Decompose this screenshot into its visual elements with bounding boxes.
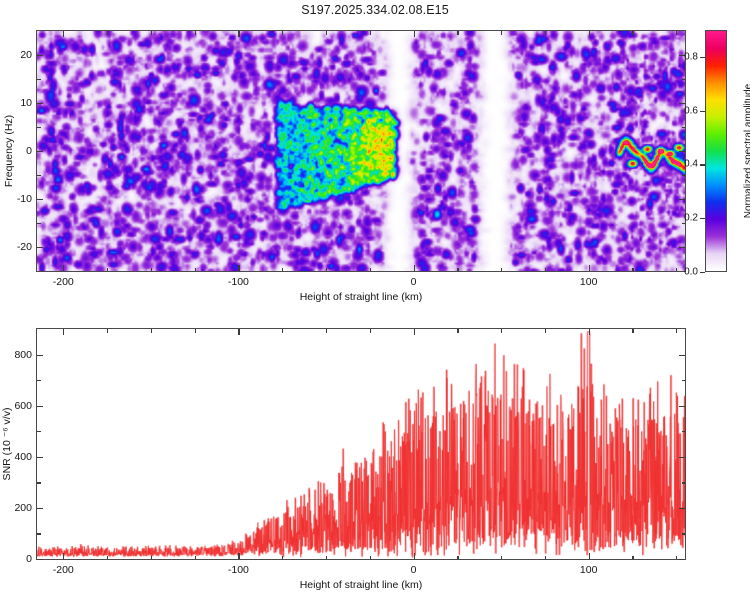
axis-tick (37, 55, 43, 56)
axis-tick-minor (282, 31, 283, 35)
axis-tick (589, 265, 590, 271)
axis-tick-minor (457, 556, 458, 560)
axis-tick-minor (632, 268, 633, 272)
axis-tick-minor (632, 31, 633, 35)
axis-tick-minor (370, 268, 371, 272)
y-tick-label: 0 (26, 553, 32, 565)
colorbar-tick-label: 0.8 (684, 51, 698, 62)
axis-tick-minor (326, 31, 327, 35)
spectrogram-image (37, 31, 685, 271)
axis-tick-minor (632, 329, 633, 333)
x-tick-label: 100 (580, 276, 598, 288)
axis-tick (679, 247, 685, 248)
axis-tick (63, 553, 64, 559)
y-tick-label: 0 (26, 145, 32, 157)
axis-tick-minor (370, 329, 371, 333)
snr-trace (37, 329, 685, 559)
y-tick-label: 20 (20, 49, 32, 61)
y-tick-label: 400 (14, 451, 32, 463)
axis-tick-minor (37, 127, 41, 128)
axis-tick-minor (676, 329, 677, 333)
axis-tick-minor (457, 268, 458, 272)
colorbar-tick-label: 0.4 (684, 159, 698, 170)
axis-tick-minor (676, 31, 677, 35)
axis-tick-minor (151, 329, 152, 333)
axis-tick (37, 457, 43, 458)
axis-tick (238, 553, 239, 559)
axis-tick-minor (37, 431, 41, 432)
axis-tick (589, 31, 590, 37)
axis-tick-minor (676, 556, 677, 560)
colorbar-tick-label: 0.0 (684, 267, 698, 278)
axis-tick-minor (682, 482, 686, 483)
axis-tick-minor (195, 329, 196, 333)
axis-tick (679, 151, 685, 152)
figure-root: S197.2025.334.02.08.E15 Frequency (Hz) H… (0, 0, 750, 600)
axis-tick-minor (370, 556, 371, 560)
axis-tick-minor (37, 175, 41, 176)
colorbar-tick (700, 57, 705, 58)
snr-y-axis-title: SNR (10 ⁻⁶ v/v) (1, 408, 13, 481)
axis-tick-minor (326, 329, 327, 333)
axis-tick-minor (195, 31, 196, 35)
y-tick-label: 800 (14, 349, 32, 361)
colorbar-tick-label: 0.6 (684, 105, 698, 116)
colorbar-gradient (705, 30, 727, 272)
axis-tick-minor (682, 79, 686, 80)
x-tick-label: 100 (580, 564, 598, 576)
axis-tick-minor (682, 127, 686, 128)
y-tick-label: -10 (17, 193, 32, 205)
axis-tick (37, 559, 43, 560)
x-tick-label: -200 (53, 564, 74, 576)
x-tick-label: 0 (411, 564, 417, 576)
spectrogram-panel: Frequency (Hz) Height of straight line (… (36, 30, 686, 272)
axis-tick-minor (195, 268, 196, 272)
y-tick-label: 600 (14, 400, 32, 412)
colorbar: Normalized spectral amplitude 0.00.20.40… (705, 30, 727, 272)
figure-title: S197.2025.334.02.08.E15 (0, 3, 750, 17)
axis-tick-minor (151, 31, 152, 35)
axis-tick-minor (326, 268, 327, 272)
colorbar-title: Normalized spectral amplitude (743, 84, 750, 219)
axis-tick-minor (682, 431, 686, 432)
colorbar-tick (700, 272, 705, 273)
axis-tick (37, 151, 43, 152)
axis-tick-minor (545, 329, 546, 333)
axis-tick-minor (501, 31, 502, 35)
axis-tick-minor (676, 268, 677, 272)
axis-tick (414, 31, 415, 37)
axis-tick-minor (682, 380, 686, 381)
axis-tick-minor (37, 223, 41, 224)
x-tick-label: -200 (53, 276, 74, 288)
axis-tick-minor (501, 556, 502, 560)
x-tick-label: -100 (228, 276, 249, 288)
axis-tick (589, 329, 590, 335)
axis-tick (37, 247, 43, 248)
axis-tick-minor (545, 556, 546, 560)
axis-tick (63, 329, 64, 335)
y-tick-label: 10 (20, 97, 32, 109)
axis-tick-minor (282, 556, 283, 560)
axis-tick-minor (195, 556, 196, 560)
axis-tick-minor (632, 556, 633, 560)
axis-tick (679, 103, 685, 104)
axis-tick (37, 406, 43, 407)
axis-tick-minor (151, 268, 152, 272)
axis-tick (679, 457, 685, 458)
colorbar-tick-label: 0.2 (684, 213, 698, 224)
x-tick-label: 0 (411, 276, 417, 288)
axis-tick-minor (682, 175, 686, 176)
axis-tick-minor (545, 268, 546, 272)
axis-tick-minor (457, 329, 458, 333)
colorbar-tick (700, 111, 705, 112)
axis-tick-minor (107, 268, 108, 272)
axis-tick-minor (37, 482, 41, 483)
axis-tick-minor (545, 31, 546, 35)
snr-x-axis-title: Height of straight line (km) (300, 579, 423, 591)
axis-tick (63, 265, 64, 271)
axis-tick-minor (326, 556, 327, 560)
x-tick-label: -100 (228, 564, 249, 576)
axis-tick (589, 553, 590, 559)
y-tick-label: 200 (14, 502, 32, 514)
axis-tick (679, 355, 685, 356)
axis-tick-minor (282, 268, 283, 272)
axis-tick (679, 559, 685, 560)
axis-tick (63, 31, 64, 37)
axis-tick-minor (501, 268, 502, 272)
axis-tick (679, 508, 685, 509)
axis-tick-minor (107, 329, 108, 333)
axis-tick-minor (107, 31, 108, 35)
axis-tick-minor (682, 533, 686, 534)
axis-tick (679, 199, 685, 200)
spectrogram-y-axis-title: Frequency (Hz) (3, 115, 15, 187)
axis-tick (238, 31, 239, 37)
axis-tick-minor (370, 31, 371, 35)
axis-tick-minor (37, 533, 41, 534)
axis-tick-minor (37, 79, 41, 80)
axis-tick (37, 103, 43, 104)
axis-tick-minor (107, 556, 108, 560)
axis-tick-minor (37, 380, 41, 381)
colorbar-tick (700, 218, 705, 219)
axis-tick (414, 329, 415, 335)
axis-tick (238, 265, 239, 271)
axis-tick (414, 553, 415, 559)
axis-tick (679, 406, 685, 407)
axis-tick (238, 329, 239, 335)
axis-tick-minor (282, 329, 283, 333)
axis-tick (37, 355, 43, 356)
spectrogram-x-axis-title: Height of straight line (km) (300, 291, 423, 303)
axis-tick (414, 265, 415, 271)
snr-panel: SNR (10 ⁻⁶ v/v) Height of straight line … (36, 328, 686, 560)
colorbar-tick (700, 164, 705, 165)
axis-tick (37, 199, 43, 200)
y-tick-label: -20 (17, 241, 32, 253)
axis-tick-minor (457, 31, 458, 35)
axis-tick (37, 508, 43, 509)
axis-tick-minor (501, 329, 502, 333)
axis-tick-minor (151, 556, 152, 560)
